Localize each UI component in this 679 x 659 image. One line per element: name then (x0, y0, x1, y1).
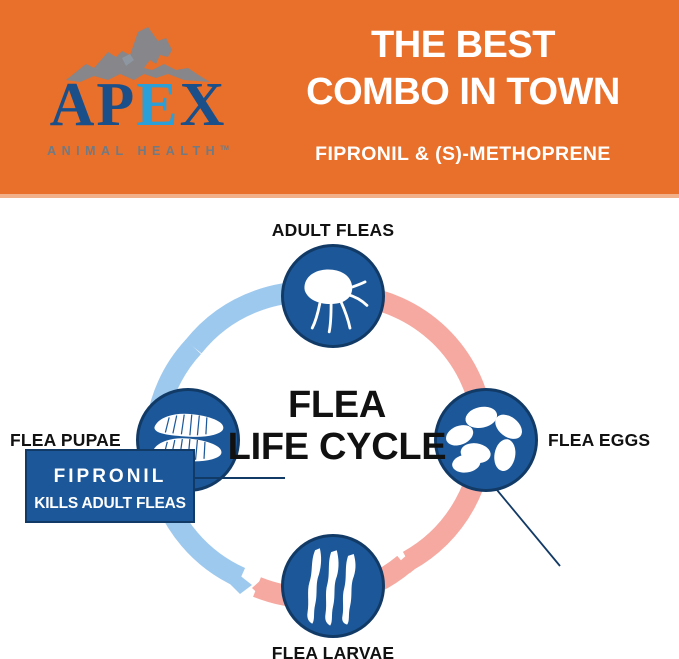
flea-eggs-icon (437, 391, 535, 489)
flea-larvae-icon (284, 537, 382, 635)
logo-tagline-text: ANIMAL HEALTH (47, 144, 220, 158)
label-flea-eggs: FLEA EGGS (548, 430, 650, 451)
headline-subtitle: FIPRONIL & (S)-METHOPRENE (258, 143, 668, 166)
callout-fipronil-title: FIPRONIL (27, 466, 193, 488)
connector-fipronil-to-adult (195, 477, 285, 479)
center-title-line-2: LIFE CYCLE (225, 426, 449, 468)
label-adult-fleas: ADULT FLEAS (261, 220, 405, 241)
callout-fipronil-subtitle: KILLS ADULT FLEAS (27, 495, 193, 512)
logo-wordmark-a: AP (50, 71, 137, 139)
logo-tagline: ANIMAL HEALTHTM (18, 144, 258, 158)
infographic-page: APEX ANIMAL HEALTHTM THE BEST COMBO IN T… (0, 0, 679, 659)
label-flea-larvae: FLEA LARVAE (261, 643, 405, 659)
logo-wordmark: APEX (18, 74, 258, 136)
headline: THE BEST COMBO IN TOWN (258, 22, 668, 116)
connector-eggs-to-methoprene (497, 490, 560, 566)
apex-logo: APEX ANIMAL HEALTHTM (18, 24, 258, 174)
callout-fipronil[interactable]: FIPRONIL KILLS ADULT FLEAS (25, 449, 195, 523)
headline-line-2: COMBO IN TOWN (258, 69, 668, 116)
node-flea-eggs[interactable] (434, 388, 538, 492)
logo-wordmark-x: X (180, 71, 227, 139)
header-banner: APEX ANIMAL HEALTHTM THE BEST COMBO IN T… (0, 0, 679, 194)
node-adult-fleas[interactable] (281, 244, 385, 348)
adult-flea-icon (284, 247, 382, 345)
logo-wordmark-e: E (136, 71, 179, 139)
trademark-mark: TM (220, 146, 229, 152)
label-flea-pupae: FLEA PUPAE (10, 430, 121, 451)
node-flea-larvae[interactable] (281, 534, 385, 638)
flea-life-cycle-diagram: ADULT FLEAS FLEA EGGS FLEA LARVAE (0, 198, 679, 659)
headline-line-1: THE BEST (258, 22, 668, 69)
center-title: FLEA LIFE CYCLE (225, 384, 449, 468)
center-title-line-1: FLEA (225, 384, 449, 426)
